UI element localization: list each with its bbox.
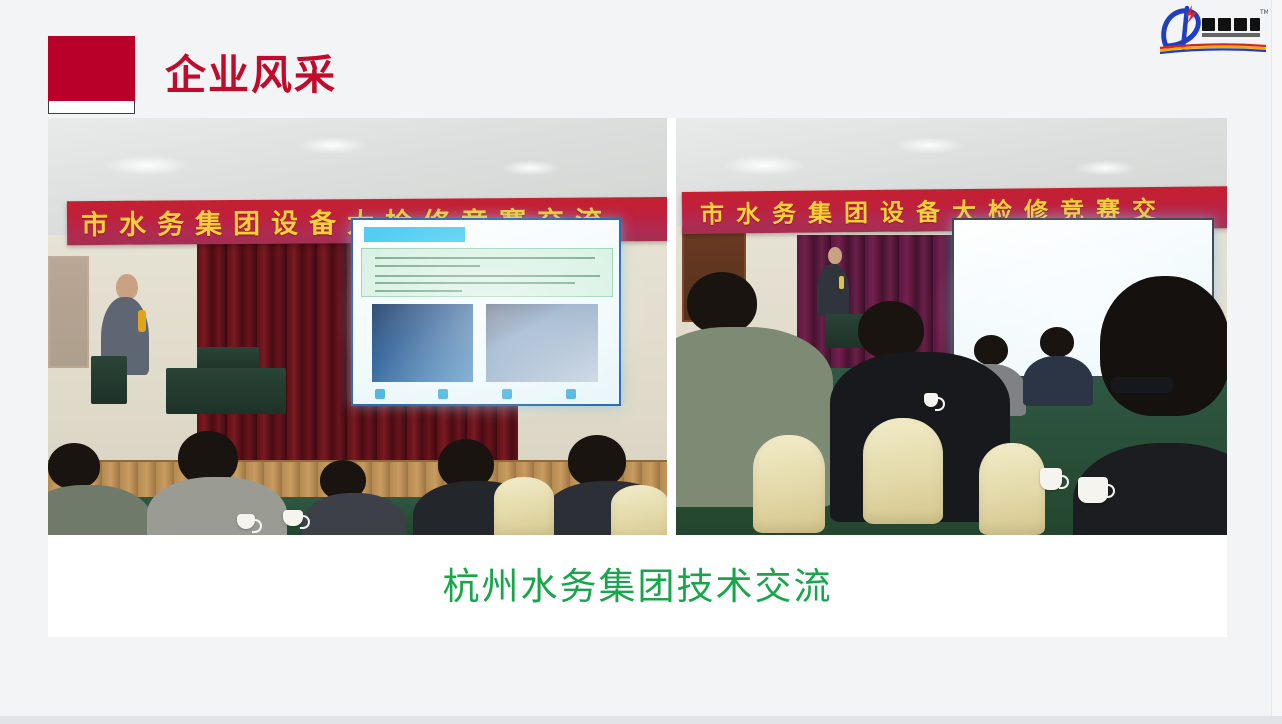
photo-presenter-with-slide[interactable]: 市水务集团设备大检修竞赛交流 xyxy=(48,118,667,535)
photo-gutter xyxy=(667,118,676,535)
chair-cover-1 xyxy=(753,435,825,533)
wall-panel xyxy=(48,256,89,368)
chair-cover-3 xyxy=(979,443,1045,535)
photo-audience-view[interactable]: 市水务集团设备大检修竞赛交 xyxy=(676,118,1227,535)
stage-table xyxy=(166,368,286,414)
tea-cup-1 xyxy=(283,510,303,526)
microphone xyxy=(839,276,844,289)
red-accent-swatch-fill xyxy=(48,36,135,101)
presenter-body xyxy=(817,264,849,316)
attendee-head-front-left xyxy=(687,272,757,334)
svg-text:TM: TM xyxy=(1259,9,1268,16)
red-accent-swatch xyxy=(48,36,135,114)
tea-cup-2 xyxy=(1040,468,1062,490)
page-root: 企业风采 TM xyxy=(0,0,1282,724)
projection-screen xyxy=(351,218,621,405)
slide-image-right xyxy=(486,304,598,381)
dianchi-technology-logo[interactable]: TM xyxy=(1156,2,1268,54)
gallery-card: 市水务集团设备大检修竞赛交流 xyxy=(48,118,1227,637)
tea-cup-2 xyxy=(237,514,255,529)
attendee-head-2 xyxy=(1040,327,1074,357)
presenter-head xyxy=(828,247,842,264)
tea-cup-1 xyxy=(1078,477,1108,503)
slide-text-block xyxy=(361,248,613,298)
attendee-head-front-mid xyxy=(858,301,924,359)
enterprise-photo-gallery: 市水务集团设备大检修竞赛交流 xyxy=(48,118,1227,535)
page-header: 企业风采 TM xyxy=(0,0,1282,118)
attendee-head-1 xyxy=(974,335,1008,365)
microphone xyxy=(138,310,146,332)
eyeglasses xyxy=(1111,377,1173,393)
page-bottom-edge xyxy=(0,716,1282,724)
slide-heading-bar xyxy=(364,227,465,242)
gallery-caption-area: 杭州水务集团技术交流 xyxy=(48,535,1227,637)
audience-head-1 xyxy=(48,443,100,489)
gallery-caption: 杭州水务集团技术交流 xyxy=(443,568,833,605)
speaker-box xyxy=(91,356,127,404)
chair-cover-2 xyxy=(611,485,667,535)
tea-cup-3 xyxy=(924,393,938,407)
page-title: 企业风采 xyxy=(165,55,337,96)
slide-image-left xyxy=(372,304,473,381)
page-right-edge xyxy=(1271,0,1282,724)
page-title-block: 企业风采 xyxy=(48,36,337,114)
audience-head-5 xyxy=(568,435,626,487)
chair-cover-2 xyxy=(863,418,943,524)
attendee-head-front-right xyxy=(1100,276,1227,416)
chair-cover-1 xyxy=(494,477,554,535)
attendee-body-2 xyxy=(1023,356,1093,406)
